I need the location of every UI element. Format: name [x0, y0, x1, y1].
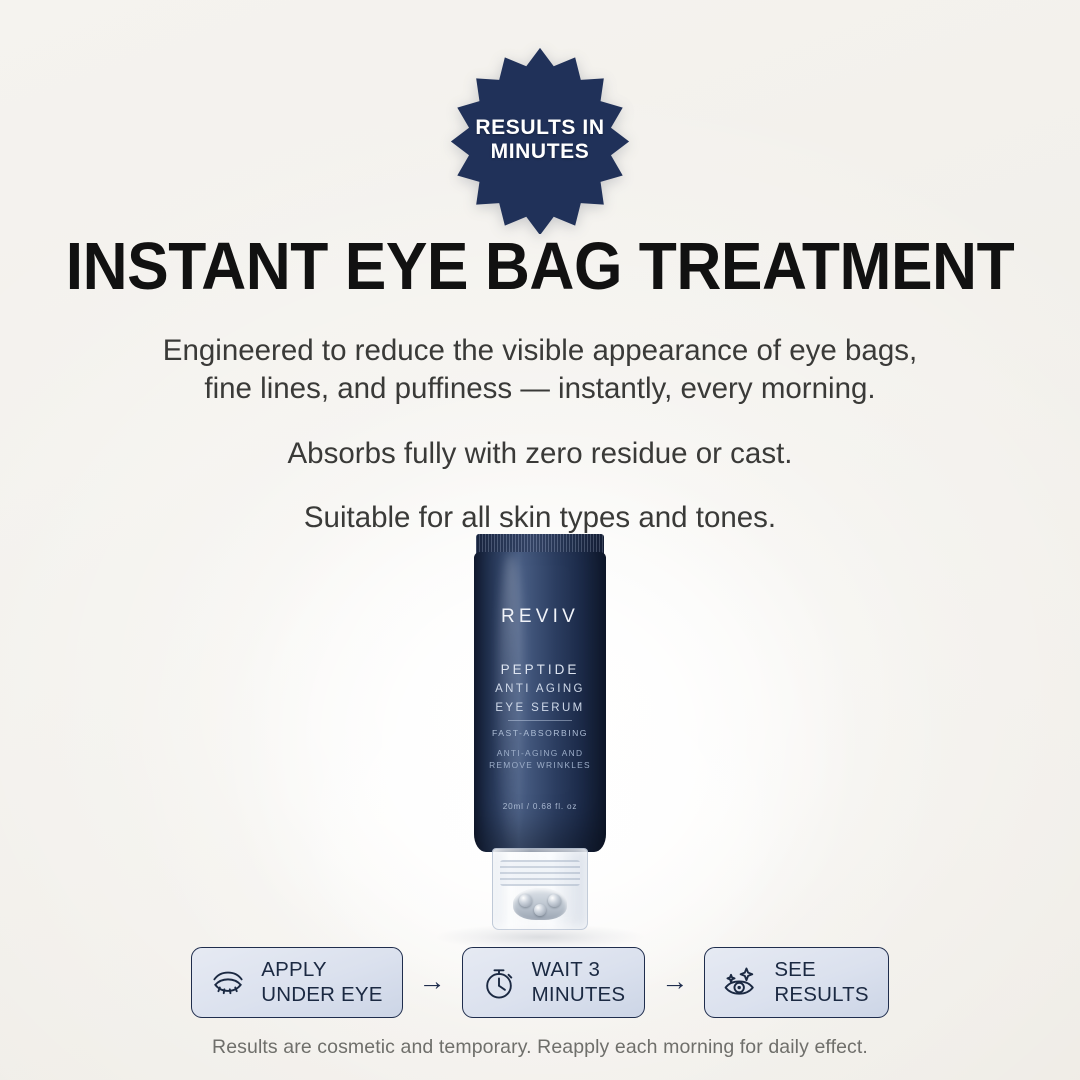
step-3-line-1: SEE — [774, 958, 816, 981]
step-chip-wait-label: WAIT 3 MINUTES — [532, 958, 626, 1007]
step-1-line-2: UNDER EYE — [261, 983, 382, 1008]
step-chip-apply-under-eye[interactable]: APPLY UNDER EYE — [191, 947, 402, 1018]
disclaimer-text: Results are cosmetic and temporary. Reap… — [0, 1036, 1080, 1059]
body-copy: Engineered to reduce the visible appeara… — [0, 332, 1080, 537]
arrow-icon-2: → — [661, 968, 688, 998]
steps-row: APPLY UNDER EYE → WAIT 3 MINUTES — [0, 947, 1080, 1018]
badge-line-2: MINUTES — [491, 140, 590, 163]
copy-lead-line-2: fine lines, and puffiness — instantly, e… — [0, 370, 1080, 408]
badge-text: RESULTS IN MINUTES — [457, 116, 622, 165]
step-1-line-1: APPLY — [261, 958, 327, 981]
arrow-icon-1: → — [419, 968, 446, 998]
roller-ball-center — [534, 904, 546, 916]
cap-collar — [500, 860, 580, 886]
product-claim-line-1: ANTI-AGING AND — [474, 748, 606, 758]
badge-container: RESULTS IN MINUTES — [0, 46, 1080, 234]
step-3-line-2: RESULTS — [774, 983, 868, 1008]
product-image: REVIV PEPTIDE ANTI AGING EYE SERUM FAST-… — [474, 534, 606, 929]
step-2-line-2: MINUTES — [532, 983, 626, 1008]
sparkle-eye-icon — [721, 963, 761, 1003]
copy-line-suitable: Suitable for all skin types and tones. — [0, 499, 1080, 537]
roller-ball-left — [519, 894, 532, 907]
product-name-line-2: ANTI AGING — [474, 683, 606, 695]
roller-plate — [513, 888, 567, 920]
roller-ball-right — [548, 894, 561, 907]
tube-divider — [508, 720, 572, 721]
copy-line-absorbs: Absorbs fully with zero residue or cast. — [0, 435, 1080, 473]
tube-crimp-seal — [476, 534, 604, 554]
step-chip-apply-label: APPLY UNDER EYE — [261, 958, 382, 1007]
closed-eye-icon — [208, 963, 248, 1003]
badge-line-1: RESULTS IN — [475, 116, 604, 139]
results-badge: RESULTS IN MINUTES — [446, 46, 634, 234]
step-chip-wait-3-minutes[interactable]: WAIT 3 MINUTES — [462, 947, 646, 1018]
product-feature: FAST-ABSORBING — [474, 728, 606, 738]
page-title: INSTANT EYE BAG TREATMENT — [38, 233, 1042, 300]
product-name-line-3: EYE SERUM — [474, 702, 606, 714]
copy-lead: Engineered to reduce the visible appeara… — [0, 332, 1080, 409]
step-2-line-1: WAIT 3 — [532, 958, 600, 981]
product-brand: REVIV — [474, 606, 606, 628]
copy-lead-line-1: Engineered to reduce the visible appeara… — [0, 332, 1080, 370]
stopwatch-icon — [479, 963, 519, 1003]
product-name-line-1: PEPTIDE — [474, 662, 606, 677]
step-chip-results-label: SEE RESULTS — [774, 958, 868, 1007]
promo-poster: RESULTS IN MINUTES INSTANT EYE BAG TREAT… — [0, 0, 1080, 1080]
product-volume: 20ml / 0.68 fl. oz — [474, 802, 606, 811]
product-claim-line-2: REMOVE WRINKLES — [474, 760, 606, 770]
rollerball-applicator-cap — [492, 848, 588, 930]
step-chip-see-results[interactable]: SEE RESULTS — [704, 947, 888, 1018]
